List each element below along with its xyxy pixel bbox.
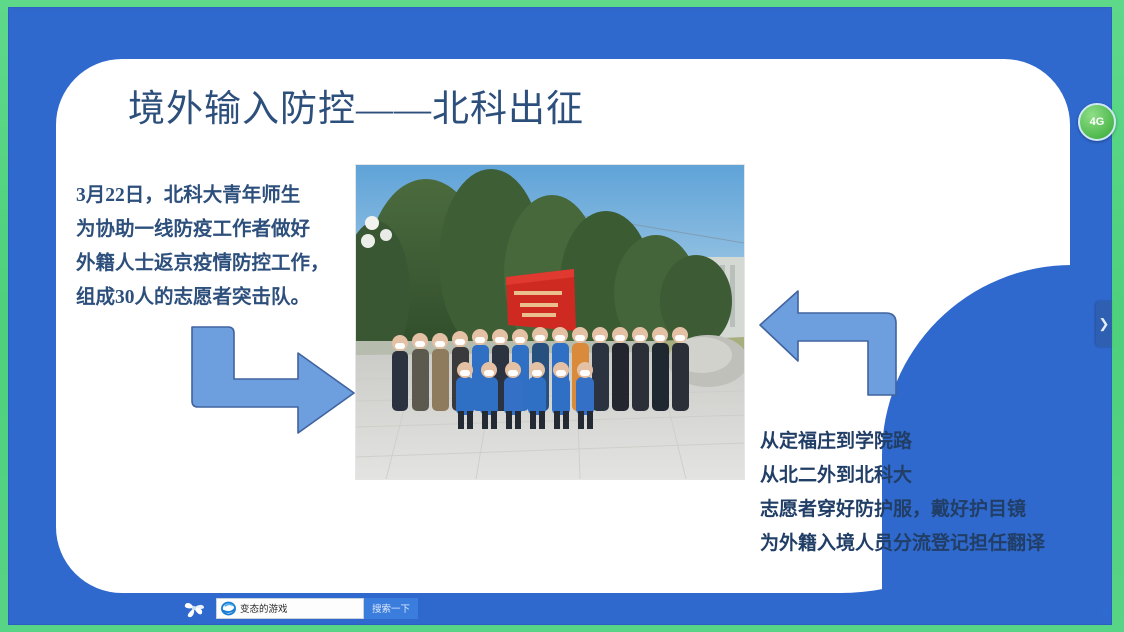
right-text-block: 从定福庄到学院路 从北二外到北科大 志愿者穿好防护服，戴好护目镜 为外籍入境人员…: [760, 425, 1090, 561]
left-text-line: 3月22日，北科大青年师生: [76, 179, 348, 213]
slide-background: 境外输入防控——北科出征 3月22日，北科大青年师生 为协助一线防疫工作者做好 …: [8, 7, 1112, 625]
group-photo: [356, 165, 744, 479]
right-text-line: 从定福庄到学院路: [760, 425, 1090, 459]
arrow-left-icon[interactable]: ◀: [1096, 603, 1110, 617]
page-title: 境外输入防控——北科出征: [128, 87, 848, 133]
search-bar: 变态的游戏 搜索一下: [216, 598, 418, 619]
signal-badge-4g[interactable]: 4G: [1078, 103, 1116, 141]
360-logo-icon[interactable]: [182, 596, 206, 620]
search-input-value: 变态的游戏: [240, 601, 288, 615]
bent-arrow-down-right-icon: [178, 323, 358, 443]
left-text-block: 3月22日，北科大青年师生 为协助一线防疫工作者做好 外籍人士返京疫情防控工作，…: [76, 179, 348, 315]
group-photo-graphic: [356, 165, 744, 479]
chevron-right-icon[interactable]: ❯: [1096, 301, 1112, 347]
search-button[interactable]: 搜索一下: [364, 598, 418, 619]
left-text-line: 外籍人士返京疫情防控工作，: [76, 247, 348, 281]
right-text-line: 从北二外到北科大: [760, 459, 1090, 493]
bent-arrow-up-left-icon: [756, 283, 906, 399]
screen-root: 境外输入防控——北科出征 3月22日，北科大青年师生 为协助一线防疫工作者做好 …: [0, 0, 1124, 632]
taskbar-search-widget: 变态的游戏 搜索一下: [168, 593, 468, 623]
right-text-line: 志愿者穿好防护服，戴好护目镜: [760, 493, 1090, 527]
search-input[interactable]: 变态的游戏: [216, 598, 364, 619]
internet-explorer-icon: [221, 601, 236, 616]
left-text-line: 组成30人的志愿者突击队。: [76, 281, 348, 315]
left-text-line: 为协助一线防疫工作者做好: [76, 213, 348, 247]
right-text-line: 为外籍入境人员分流登记担任翻译: [760, 527, 1090, 561]
